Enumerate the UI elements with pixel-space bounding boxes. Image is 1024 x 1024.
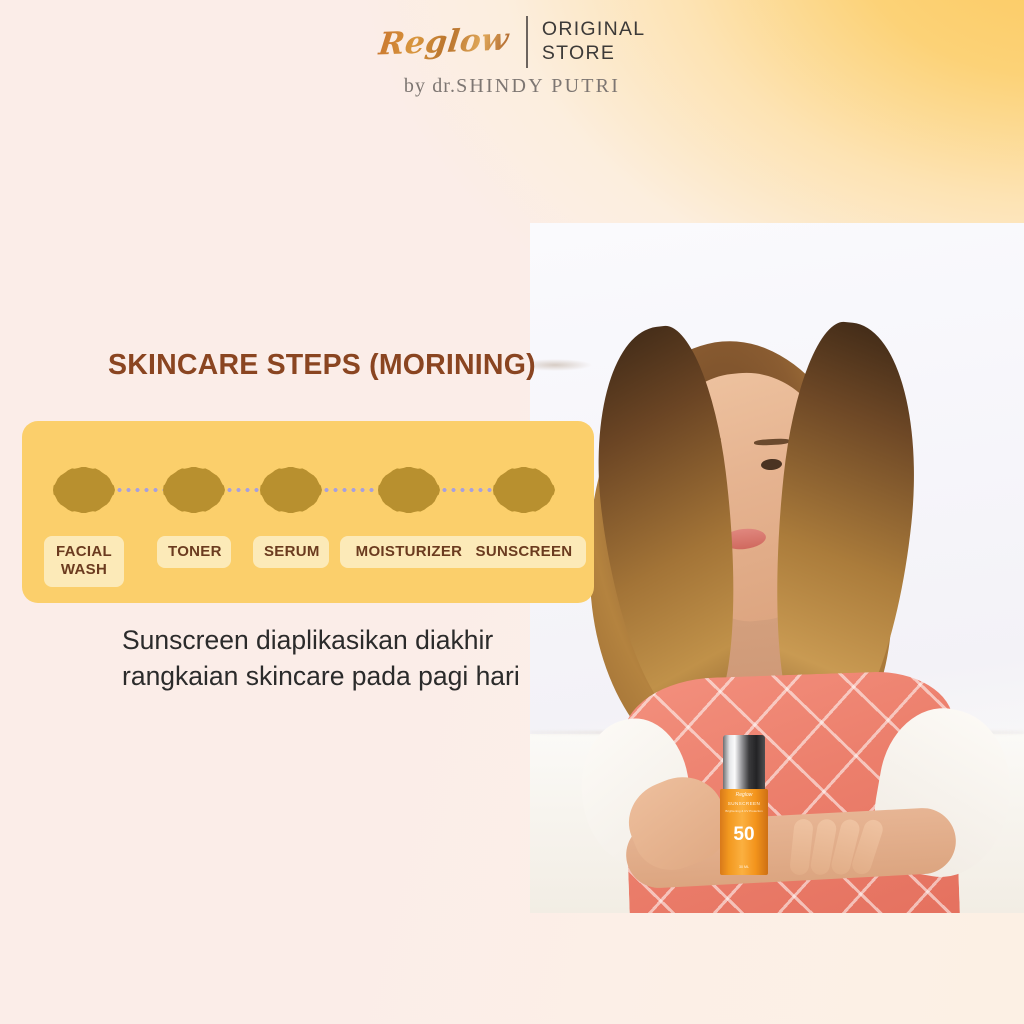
product-name-label: SUNSCREEN	[720, 801, 768, 806]
step-label-pill: SERUM	[253, 536, 329, 568]
brand-wordmark: Reglow	[376, 21, 514, 62]
step-connector	[115, 488, 163, 492]
brand-store-line2: STORE	[542, 42, 646, 66]
product-spf-value: 50	[720, 825, 768, 844]
product-body: Reglow SUNSCREEN Brightening & UV Protec…	[720, 789, 768, 875]
brand-store-label: ORIGINAL STORE	[542, 18, 646, 66]
sunburst-icon	[260, 459, 322, 521]
brand-byline-name: SHINDY PUTRI	[456, 75, 620, 97]
brand-store-line1: ORIGINAL	[542, 18, 646, 42]
step-connector	[440, 488, 493, 492]
product-volume-label: 30 ML	[720, 865, 768, 869]
step-label-pill: FACIAL WASH	[44, 536, 124, 587]
page-title: SKINCARE STEPS (MORINING)	[108, 349, 536, 382]
product-cap	[723, 735, 765, 791]
step-label-pill: SUNSCREEN	[462, 536, 586, 568]
brand-header: Reglow ORIGINAL STORE by dr.SHINDY PUTRI	[0, 14, 1024, 98]
step-label-pill: MOISTURIZER	[340, 536, 478, 568]
sunburst-icon	[493, 459, 555, 521]
product-bottle: Reglow SUNSCREEN Brightening & UV Protec…	[720, 735, 768, 875]
brand-lockup: Reglow ORIGINAL STORE	[379, 14, 646, 70]
sunburst-icon	[378, 459, 440, 521]
step-connector	[322, 488, 378, 492]
sunburst-icon	[53, 459, 115, 521]
brand-divider	[526, 16, 528, 68]
skincare-steps-card: FACIAL WASHTONERSERUMMOISTURIZERSUNSCREE…	[22, 421, 594, 603]
step-connector	[225, 488, 260, 492]
brand-byline-prefix: by dr.	[404, 75, 456, 97]
body-copy: Sunscreen diaplikasikan diakhir rangkaia…	[122, 622, 592, 695]
brand-byline: by dr.SHINDY PUTRI	[404, 75, 620, 98]
product-shadow	[530, 359, 592, 371]
step-label-pill: TONER	[157, 536, 231, 568]
steps-row: FACIAL WASHTONERSERUMMOISTURIZERSUNSCREE…	[22, 421, 594, 603]
poster-canvas: Reglow ORIGINAL STORE by dr.SHINDY PUTRI	[0, 0, 1024, 1024]
product-description-label: Brightening & UV Protection	[720, 809, 768, 813]
sunburst-icon	[163, 459, 225, 521]
model-photo: Reglow SUNSCREEN Brightening & UV Protec…	[530, 223, 1024, 913]
product-brand-label: Reglow	[720, 792, 768, 798]
